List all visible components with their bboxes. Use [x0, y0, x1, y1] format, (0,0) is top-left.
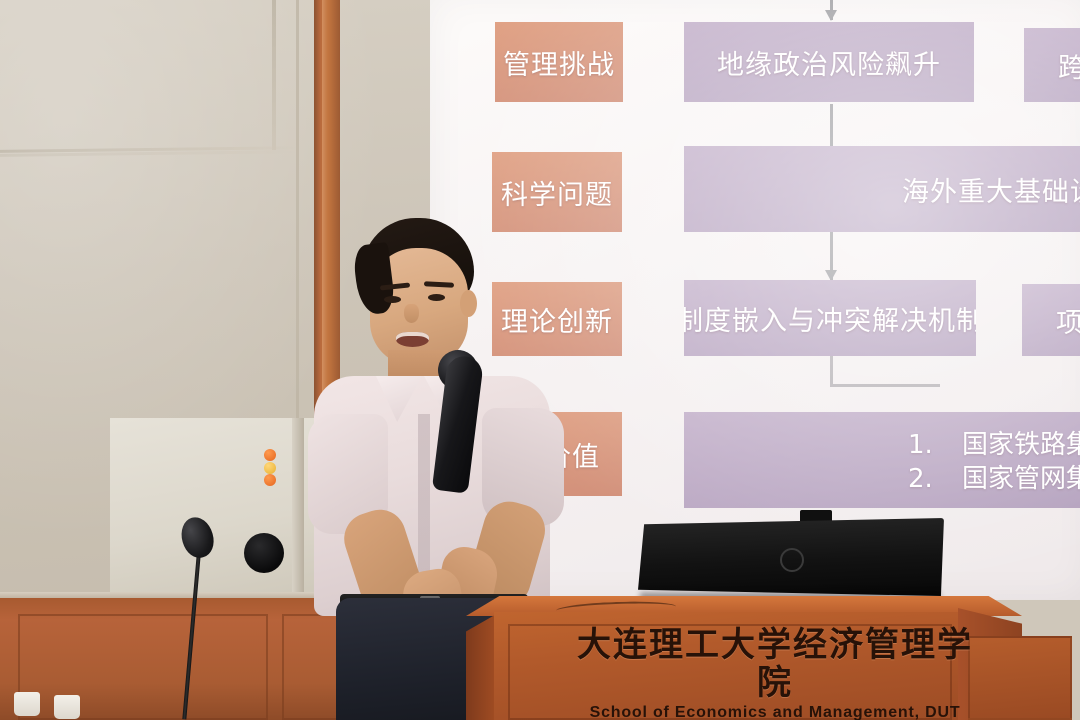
slide-content-box-1: 地缘政治风险飙升: [684, 22, 974, 102]
list-item: 1.国家铁路集: [908, 428, 1080, 462]
magnet-orange-icon: [264, 449, 276, 461]
flow-arrow-down: [830, 228, 833, 280]
slide-content-box-2: 跨: [1024, 28, 1080, 102]
lecture-photo-scene: 管理挑战 地缘政治风险飙升 跨 科学问题 海外重大基础设 理论创新 制度嵌入与冲…: [0, 0, 1080, 720]
paper-cup: [14, 692, 40, 716]
slide-content-label: 地缘政治风险飙升: [717, 43, 941, 82]
list-item-text: 国家铁路集: [962, 430, 1080, 460]
slide-content-label: 海外重大基础设: [902, 170, 1080, 209]
magnet-orange-icon: [264, 474, 276, 486]
slide-content-label: 项目: [1056, 301, 1080, 340]
list-item: 2.国家管网集: [908, 462, 1080, 496]
slide-content-box-3: 海外重大基础设: [684, 146, 1080, 232]
flow-arrow-down: [830, 0, 833, 20]
podium-signage-chinese: 大连理工大学经济管理学院: [560, 626, 990, 702]
slide-category-box-1: 管理挑战: [495, 22, 623, 102]
list-item-number: 2.: [908, 462, 962, 496]
flow-connector: [830, 384, 940, 387]
slide-content-label: 制度嵌入与冲突解决机制: [684, 299, 976, 338]
slide-content-label: 跨: [1058, 46, 1080, 85]
podium-signage: 大连理工大学经济管理学院 School of Economics and Man…: [560, 626, 990, 720]
dell-logo-icon: [780, 548, 804, 572]
presenter-eye: [384, 296, 401, 303]
presenter-mouth: [396, 332, 429, 347]
paper-cup: [54, 695, 80, 719]
presenter-nose: [404, 304, 419, 323]
presenter-eye: [428, 294, 445, 301]
presenter-ear: [460, 290, 477, 317]
slide-content-box-4: 制度嵌入与冲突解决机制: [684, 280, 976, 356]
flow-connector: [830, 352, 833, 386]
podium-signage-english: School of Economics and Management, DUT: [560, 704, 990, 720]
flow-connector: [830, 104, 833, 146]
magnet-yellow-icon: [264, 462, 276, 474]
slide-category-label: 科学问题: [501, 173, 613, 212]
speaker-grille: [244, 533, 284, 573]
list-item-number: 1.: [908, 428, 962, 462]
list-item-text: 国家管网集: [962, 464, 1080, 494]
slide-content-box-5: 项目: [1022, 284, 1080, 356]
slide-numbered-list: 1.国家铁路集 2.国家管网集: [908, 428, 1080, 496]
whiteboard: [110, 418, 320, 598]
slide-category-label: 管理挑战: [503, 43, 615, 82]
